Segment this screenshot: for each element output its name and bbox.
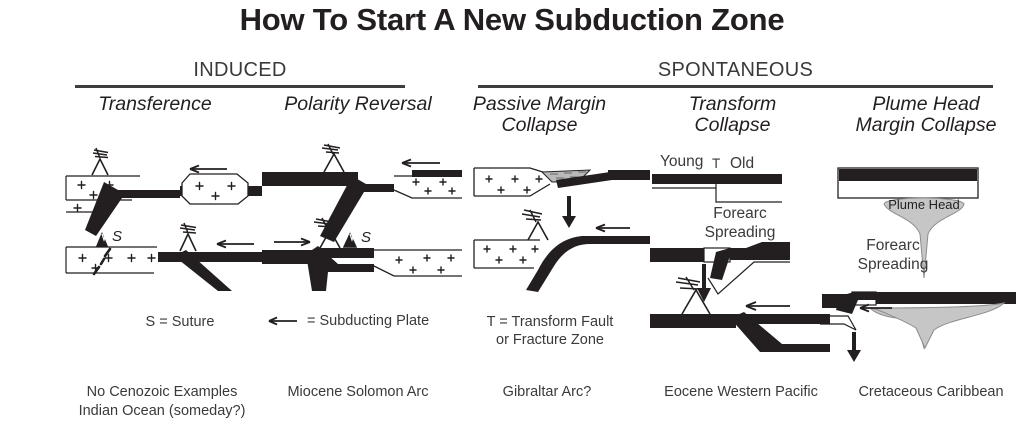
column-heading-polarity-reversal: Polarity Reversal bbox=[258, 94, 458, 115]
polarity-reversal-svg: S bbox=[262, 146, 462, 291]
oceanic-plate-left-1 bbox=[262, 172, 358, 186]
continent-crosses-3 bbox=[79, 255, 155, 272]
plate-bar-left-3 bbox=[650, 314, 736, 328]
column-heading-line1: Transference bbox=[65, 94, 245, 115]
panel-passive-margin-collapse bbox=[470, 152, 650, 292]
legend-transform-line2: or Fracture Zone bbox=[455, 331, 645, 349]
motion-arrow-2 bbox=[217, 241, 254, 248]
example-line1: No Cenozoic Examples bbox=[62, 383, 262, 402]
group-rule-spontaneous bbox=[478, 85, 993, 88]
eruption-plume-1 bbox=[93, 148, 108, 158]
eruption-plume-pm bbox=[522, 210, 542, 222]
motion-arrow-3 bbox=[402, 160, 440, 167]
plate-bar-right-3 bbox=[736, 314, 830, 324]
transform-forearc-label: Forearc Spreading bbox=[650, 204, 830, 242]
young-plate-bar bbox=[652, 174, 716, 184]
suture-volcano bbox=[97, 234, 107, 246]
volcano-pm bbox=[528, 222, 548, 240]
column-heading-line2: Collapse bbox=[452, 115, 627, 136]
column-heading-transference: Transference bbox=[65, 94, 245, 115]
continent-crosses-7 bbox=[484, 246, 538, 263]
plume-head-lobe-2 bbox=[874, 303, 1004, 348]
old-plate-base bbox=[716, 184, 782, 202]
subducting-slab-pm bbox=[526, 236, 650, 292]
oceanic-plate-bar-1b bbox=[248, 186, 262, 196]
column-heading-line2: Margin Collapse bbox=[828, 115, 1024, 136]
example-line1: Cretaceous Caribbean bbox=[838, 383, 1024, 402]
plume-forearc-label: Forearc Spreading bbox=[838, 236, 948, 274]
volcano-1 bbox=[92, 159, 108, 175]
oceanic-plate-bar-2 bbox=[158, 252, 262, 262]
motion-arrow-4 bbox=[274, 239, 310, 246]
example-line1: Miocene Solomon Arc bbox=[258, 383, 458, 402]
label-transform-t: T bbox=[712, 156, 720, 171]
group-header-induced: INDUCED bbox=[75, 59, 405, 82]
old-plate-bar bbox=[716, 174, 782, 184]
transition-arrow-down bbox=[562, 196, 576, 228]
diagram-canvas: How To Start A New Subduction Zone INDUC… bbox=[0, 0, 1024, 431]
column-heading-plume-head-margin-collapse: Plume Head Margin Collapse bbox=[828, 94, 1024, 136]
forearc-text-2: Forearc bbox=[838, 236, 948, 255]
label-young: Young bbox=[660, 153, 703, 170]
continent-block-left-2 bbox=[66, 247, 157, 273]
transform-collapse-svg: Young T Old bbox=[650, 152, 830, 352]
oceanic-bar-top-right bbox=[412, 170, 462, 177]
panel-transference: S bbox=[62, 146, 262, 291]
column-heading-line1: Polarity Reversal bbox=[258, 94, 458, 115]
spreading-text-2: Spreading bbox=[838, 255, 948, 274]
example-passive-margin-collapse: Gibraltar Arc? bbox=[462, 383, 632, 402]
example-plume-head-margin-collapse: Cretaceous Caribbean bbox=[838, 383, 1024, 402]
subducting-plate-arrow-icon bbox=[265, 314, 299, 328]
arc-crust-2 bbox=[316, 248, 374, 258]
subducting-slab-1 bbox=[85, 182, 180, 236]
example-line2: Indian Ocean (someday?) bbox=[62, 402, 262, 421]
legend-subducting-plate-text: = Subducting Plate bbox=[307, 313, 429, 329]
example-line1: Gibraltar Arc? bbox=[462, 383, 632, 402]
continent-wedge-pm-2 bbox=[474, 240, 540, 268]
volcano-2 bbox=[180, 234, 196, 251]
suture-label-2: S bbox=[361, 229, 371, 246]
group-rule-induced bbox=[75, 85, 405, 88]
continent-crosses-4 bbox=[413, 179, 455, 194]
suture-label-1: S bbox=[112, 228, 122, 245]
eruption-plume-3 bbox=[322, 144, 340, 154]
passive-margin-svg bbox=[470, 152, 650, 292]
plate-bar-right-ph bbox=[876, 292, 1016, 304]
motion-arrow-1 bbox=[190, 166, 227, 173]
column-heading-line2: Collapse bbox=[645, 115, 820, 136]
plate-bar-left-2 bbox=[650, 248, 704, 262]
volcano-3 bbox=[324, 154, 344, 172]
example-polarity-reversal: Miocene Solomon Arc bbox=[258, 383, 458, 402]
motion-arrow-tc bbox=[746, 302, 790, 310]
eruption-plume-tc bbox=[676, 277, 700, 290]
sinking-arrow-ph bbox=[847, 332, 861, 362]
plume-head-label: Plume Head bbox=[888, 197, 960, 212]
suture-volcano-2 bbox=[344, 234, 356, 247]
continent-crosses-6 bbox=[486, 176, 542, 193]
spreading-text: Spreading bbox=[650, 223, 830, 242]
page-title: How To Start A New Subduction Zone bbox=[0, 2, 1024, 38]
column-heading-line1: Passive Margin bbox=[452, 94, 627, 115]
column-heading-line1: Plume Head bbox=[828, 94, 1024, 115]
motion-arrow-pm bbox=[596, 225, 630, 232]
legend-suture: S = Suture bbox=[85, 313, 275, 331]
column-heading-transform-collapse: Transform Collapse bbox=[645, 94, 820, 136]
continent-crosses-5 bbox=[396, 255, 454, 273]
example-transform-collapse: Eocene Western Pacific bbox=[648, 383, 834, 402]
lithosphere-crust bbox=[839, 169, 977, 181]
legend-transform-line1: T = Transform Fault bbox=[455, 313, 645, 331]
column-heading-passive-margin-collapse: Passive Margin Collapse bbox=[452, 94, 627, 136]
label-old: Old bbox=[730, 155, 754, 172]
panel-transform-collapse: Young T Old bbox=[650, 152, 830, 352]
group-header-spontaneous: SPONTANEOUS bbox=[478, 59, 993, 82]
column-heading-line1: Transform bbox=[645, 94, 820, 115]
continent-wedge-right-2 bbox=[374, 250, 462, 276]
eruption-plume-2 bbox=[180, 223, 196, 233]
suture-dashes bbox=[94, 249, 110, 274]
oceanic-plate-pm-2 bbox=[608, 170, 650, 180]
transference-svg: S bbox=[62, 146, 262, 291]
panel-polarity-reversal: S bbox=[262, 146, 462, 291]
example-line1: Eocene Western Pacific bbox=[648, 383, 834, 402]
forearc-text: Forearc bbox=[650, 204, 830, 223]
example-transference: No Cenozoic Examples Indian Ocean (somed… bbox=[62, 383, 262, 421]
legend-transform-fault: T = Transform Fault or Fracture Zone bbox=[455, 313, 645, 349]
